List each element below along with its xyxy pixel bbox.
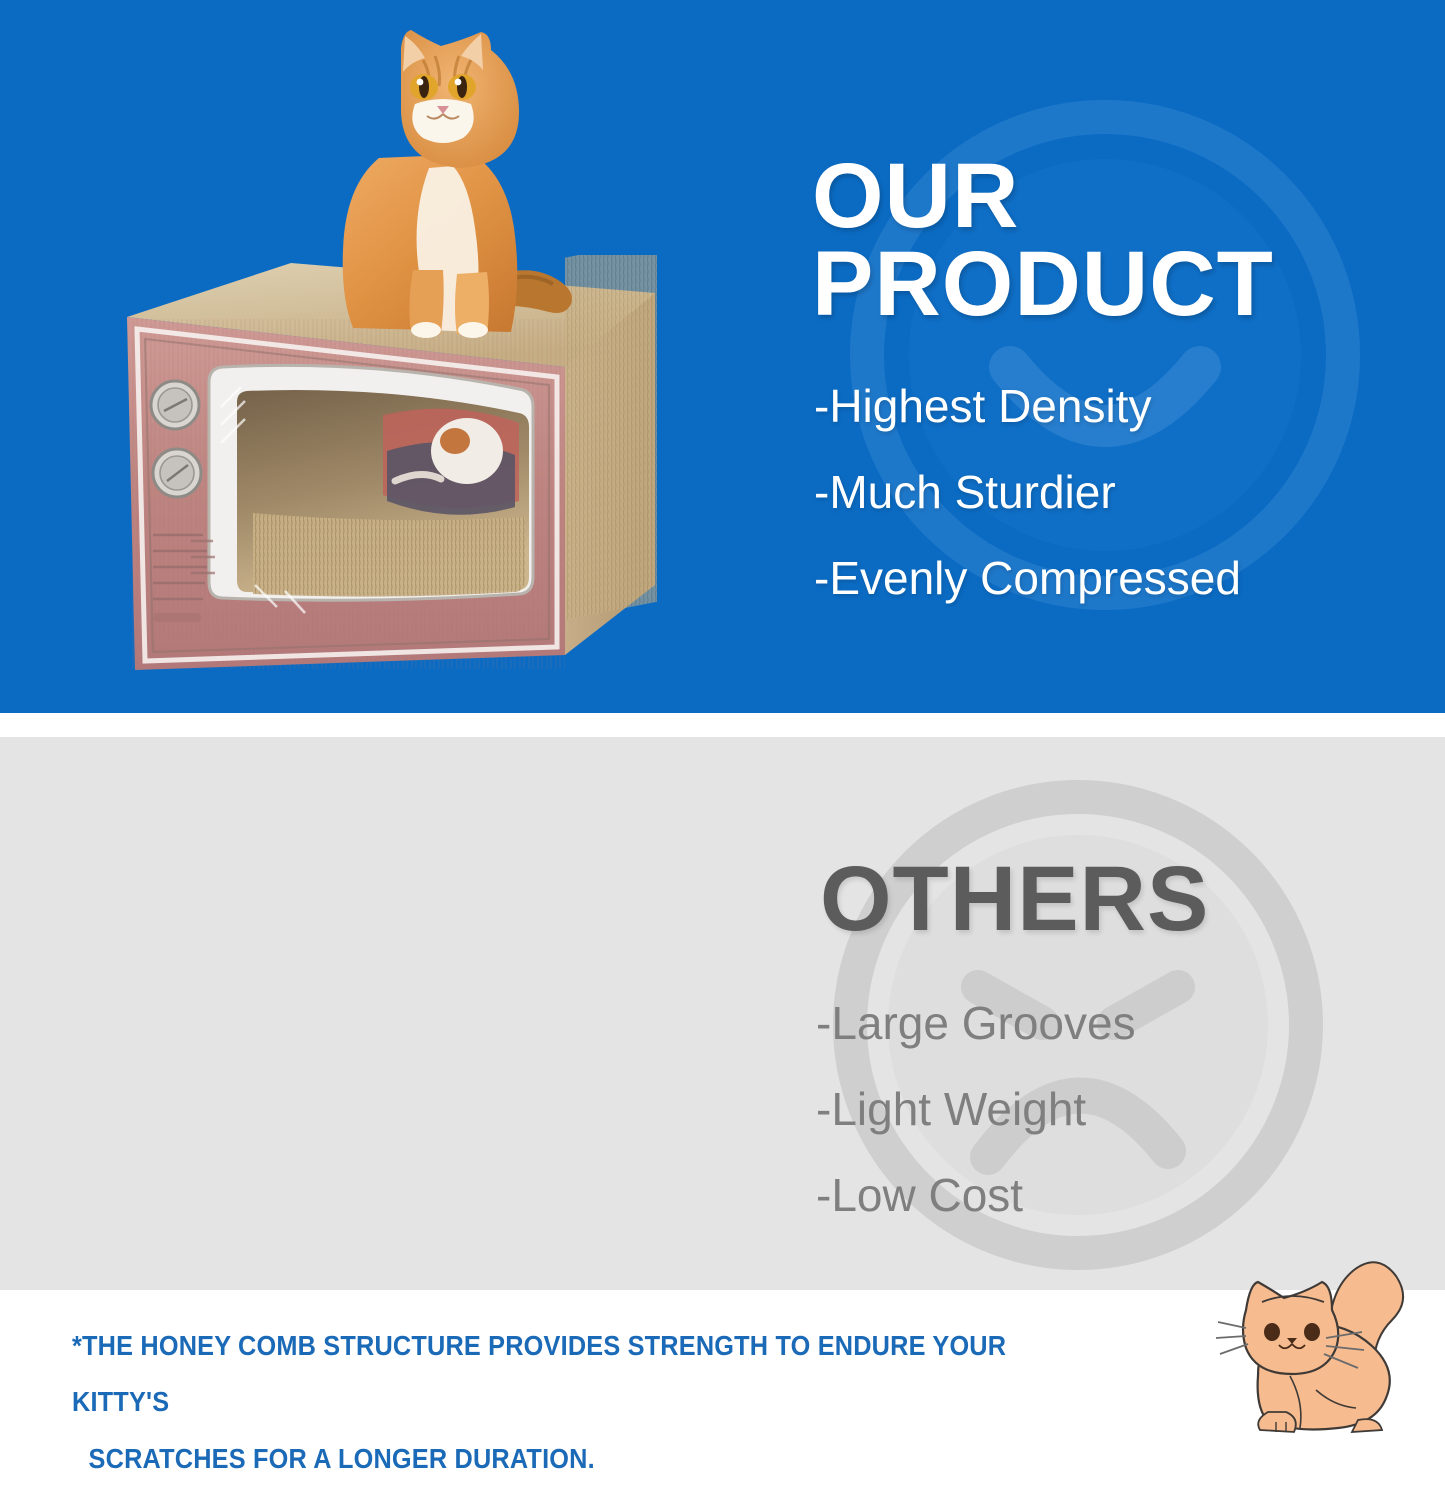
others-bullet-list: -Large Grooves -Light Weight -Low Cost — [816, 1000, 1136, 1258]
caption-line-1: *THE HONEY COMB STRUCTURE PROVIDES STREN… — [72, 1318, 1102, 1431]
tabby-cat-photo — [283, 8, 603, 338]
others-panel: OTHERS -Large Grooves -Light Weight -Low… — [0, 737, 1445, 1290]
cartoon-cat-mascot-icon — [1212, 1258, 1412, 1448]
bullet-low-cost: -Low Cost — [816, 1172, 1136, 1218]
bullet-much-sturdier: -Much Sturdier — [814, 469, 1241, 515]
bullet-evenly-compressed: -Evenly Compressed — [814, 555, 1241, 601]
infographic-page: OUR PRODUCT -Highest Density -Much Sturd… — [0, 0, 1445, 1445]
bullet-light-weight: -Light Weight — [816, 1086, 1136, 1132]
our-product-heading-line2: PRODUCT — [812, 240, 1274, 328]
bullet-large-grooves: -Large Grooves — [816, 1000, 1136, 1046]
our-product-bullet-list: -Highest Density -Much Sturdier -Evenly … — [814, 383, 1241, 641]
footnote-caption: *THE HONEY COMB STRUCTURE PROVIDES STREN… — [72, 1318, 1102, 1487]
our-product-heading-line1: OUR — [812, 152, 1019, 240]
caption-line-2: SCRATCHES FOR A LONGER DURATION. — [72, 1431, 1102, 1487]
others-heading: OTHERS — [820, 855, 1209, 943]
bullet-highest-density: -Highest Density — [814, 383, 1241, 429]
our-product-panel: OUR PRODUCT -Highest Density -Much Sturd… — [0, 0, 1445, 713]
